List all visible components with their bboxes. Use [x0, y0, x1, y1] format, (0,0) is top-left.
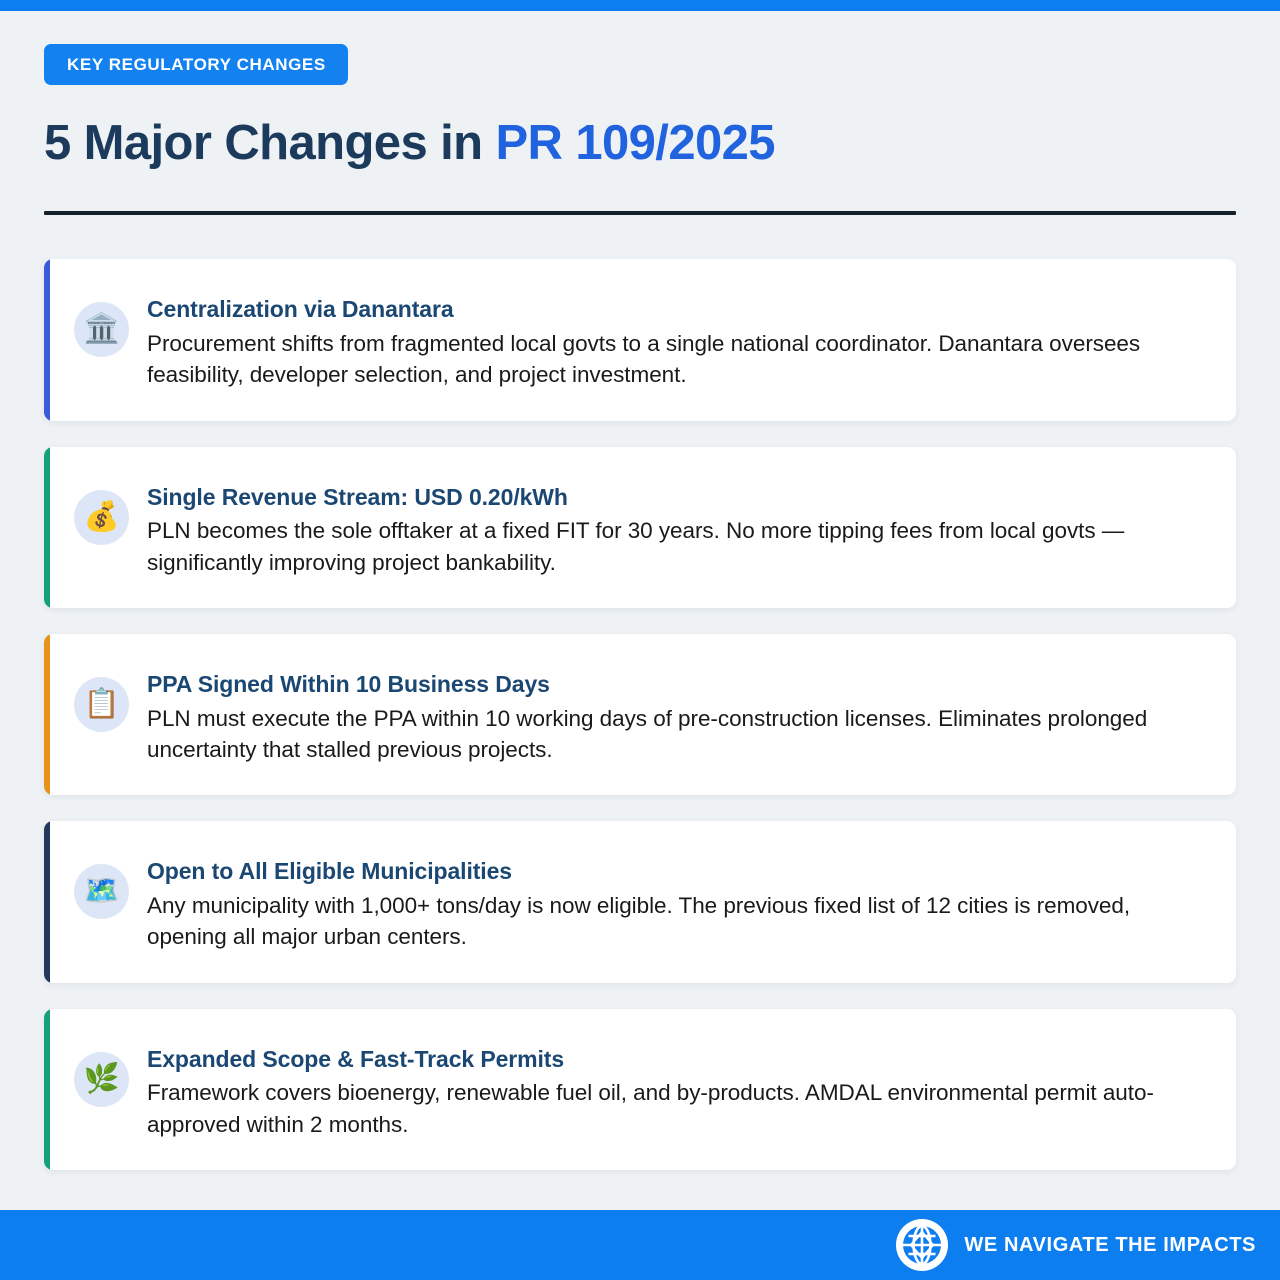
card-body: PPA Signed Within 10 Business Days PLN m… — [147, 664, 1196, 765]
change-card: 🌿 Expanded Scope & Fast-Track Permits Fr… — [44, 1009, 1236, 1170]
footer-bar: WE NAVIGATE THE IMPACTS — [0, 1210, 1280, 1280]
card-description: Framework covers bioenergy, renewable fu… — [147, 1077, 1196, 1140]
page-title: 5 Major Changes in PR 109/2025 — [44, 118, 1236, 169]
change-card: 💰 Single Revenue Stream: USD 0.20/kWh PL… — [44, 447, 1236, 608]
clipboard-icon: 📋 — [74, 677, 129, 732]
card-accent-bar — [44, 259, 50, 420]
card-accent-bar — [44, 821, 50, 982]
change-card: 📋 PPA Signed Within 10 Business Days PLN… — [44, 634, 1236, 795]
card-description: PLN becomes the sole offtaker at a fixed… — [147, 515, 1196, 578]
card-body: Centralization via Danantara Procurement… — [147, 289, 1196, 390]
changes-card-list: 🏛️ Centralization via Danantara Procurem… — [44, 259, 1236, 1169]
card-body: Open to All Eligible Municipalities Any … — [147, 851, 1196, 952]
map-icon: 🗺️ — [74, 864, 129, 919]
classical-building-icon: 🏛️ — [74, 302, 129, 357]
globe-compass-logo-icon — [896, 1219, 948, 1271]
card-title: PPA Signed Within 10 Business Days — [147, 670, 1196, 699]
change-card: 🗺️ Open to All Eligible Municipalities A… — [44, 821, 1236, 982]
top-accent-bar — [0, 0, 1280, 11]
card-description: Procurement shifts from fragmented local… — [147, 328, 1196, 391]
card-title: Open to All Eligible Municipalities — [147, 857, 1196, 886]
eyebrow-badge: KEY REGULATORY CHANGES — [44, 44, 348, 85]
card-title: Single Revenue Stream: USD 0.20/kWh — [147, 483, 1196, 512]
card-title: Centralization via Danantara — [147, 295, 1196, 324]
herb-leaf-icon: 🌿 — [74, 1052, 129, 1107]
page-content: KEY REGULATORY CHANGES 5 Major Changes i… — [0, 11, 1280, 1210]
card-description: PLN must execute the PPA within 10 worki… — [147, 703, 1196, 766]
card-description: Any municipality with 1,000+ tons/day is… — [147, 890, 1196, 953]
money-bag-icon: 💰 — [74, 490, 129, 545]
card-accent-bar — [44, 634, 50, 795]
footer-tagline: WE NAVIGATE THE IMPACTS — [964, 1234, 1256, 1257]
card-body: Single Revenue Stream: USD 0.20/kWh PLN … — [147, 477, 1196, 578]
title-divider — [44, 211, 1236, 215]
change-card: 🏛️ Centralization via Danantara Procurem… — [44, 259, 1236, 420]
card-body: Expanded Scope & Fast-Track Permits Fram… — [147, 1039, 1196, 1140]
card-accent-bar — [44, 447, 50, 608]
card-accent-bar — [44, 1009, 50, 1170]
card-title: Expanded Scope & Fast-Track Permits — [147, 1045, 1196, 1074]
page-title-accent: PR 109/2025 — [495, 116, 774, 170]
page-title-lead: 5 Major Changes in — [44, 116, 495, 170]
